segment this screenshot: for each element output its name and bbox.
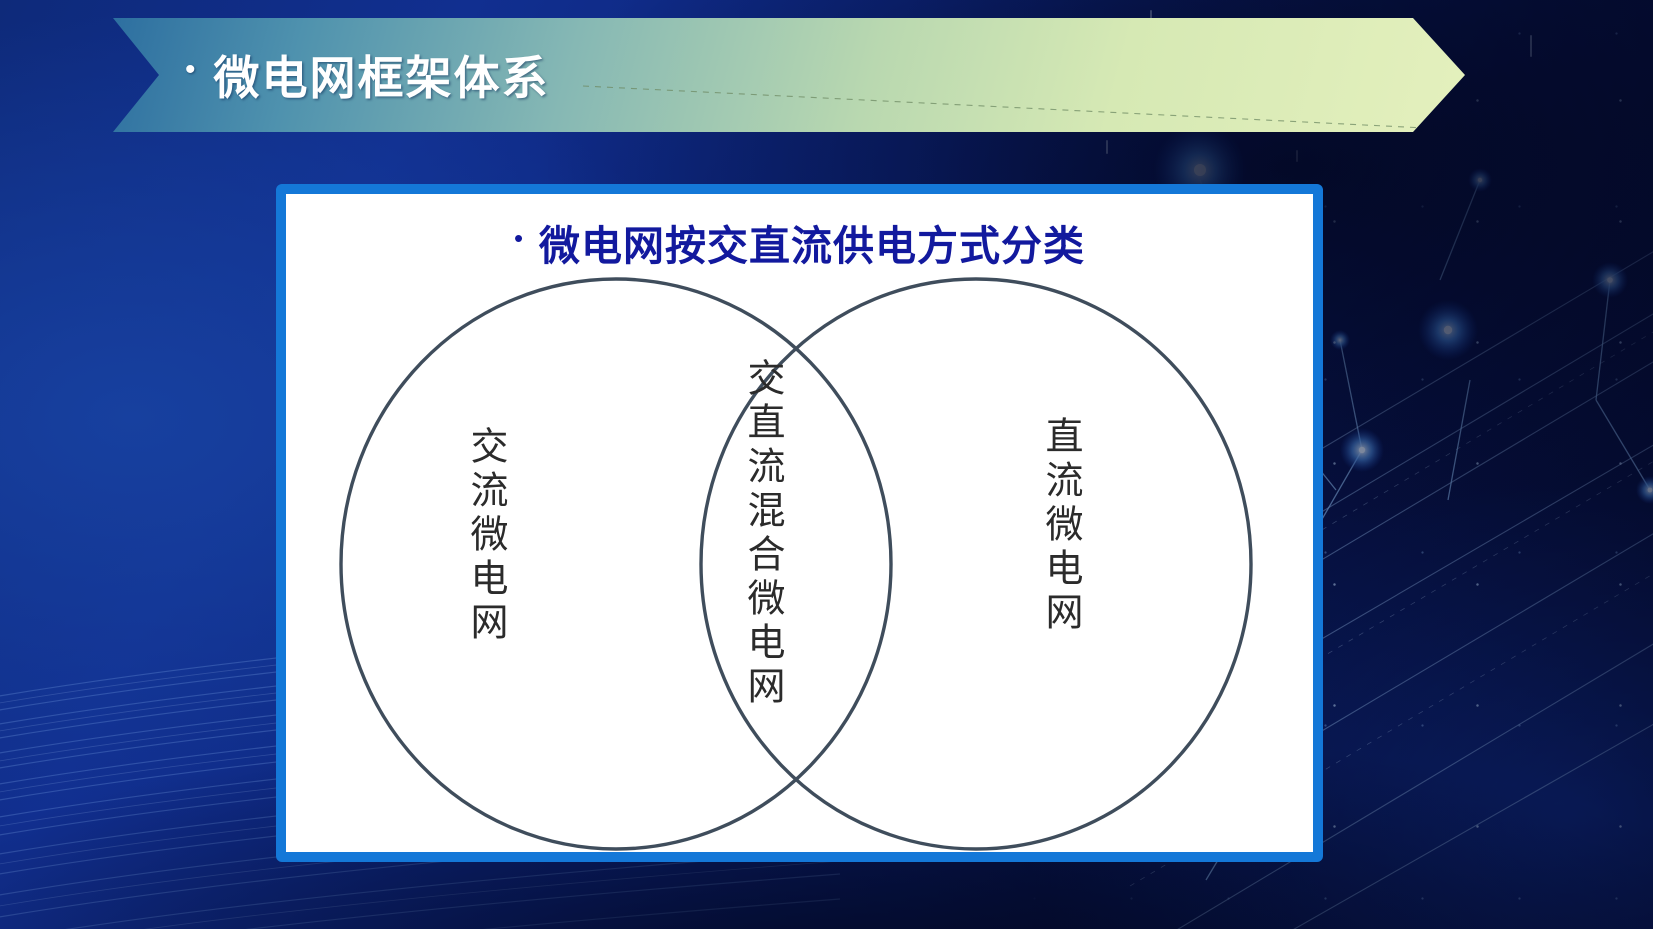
title-banner: • 微电网框架体系: [113, 18, 1465, 132]
slide-canvas: • 微电网框架体系 • 微电网按交直流供电方式分类 交流微电网 交直流混合微电网…: [0, 0, 1653, 929]
content-card: • 微电网按交直流供电方式分类 交流微电网 交直流混合微电网 直流微电网 7: [276, 184, 1323, 862]
venn-label-dc: 直流微电网: [1042, 416, 1080, 636]
venn-diagram: [286, 194, 1313, 852]
page-title: 微电网框架体系: [214, 42, 550, 108]
title-text-group: • 微电网框架体系: [185, 42, 550, 108]
venn-label-ac: 交流微电网: [467, 426, 505, 646]
title-bullet-icon: •: [185, 55, 196, 85]
venn-label-hybrid: 交直流混合微电网: [744, 358, 782, 710]
venn-circle-ac: [341, 279, 891, 849]
